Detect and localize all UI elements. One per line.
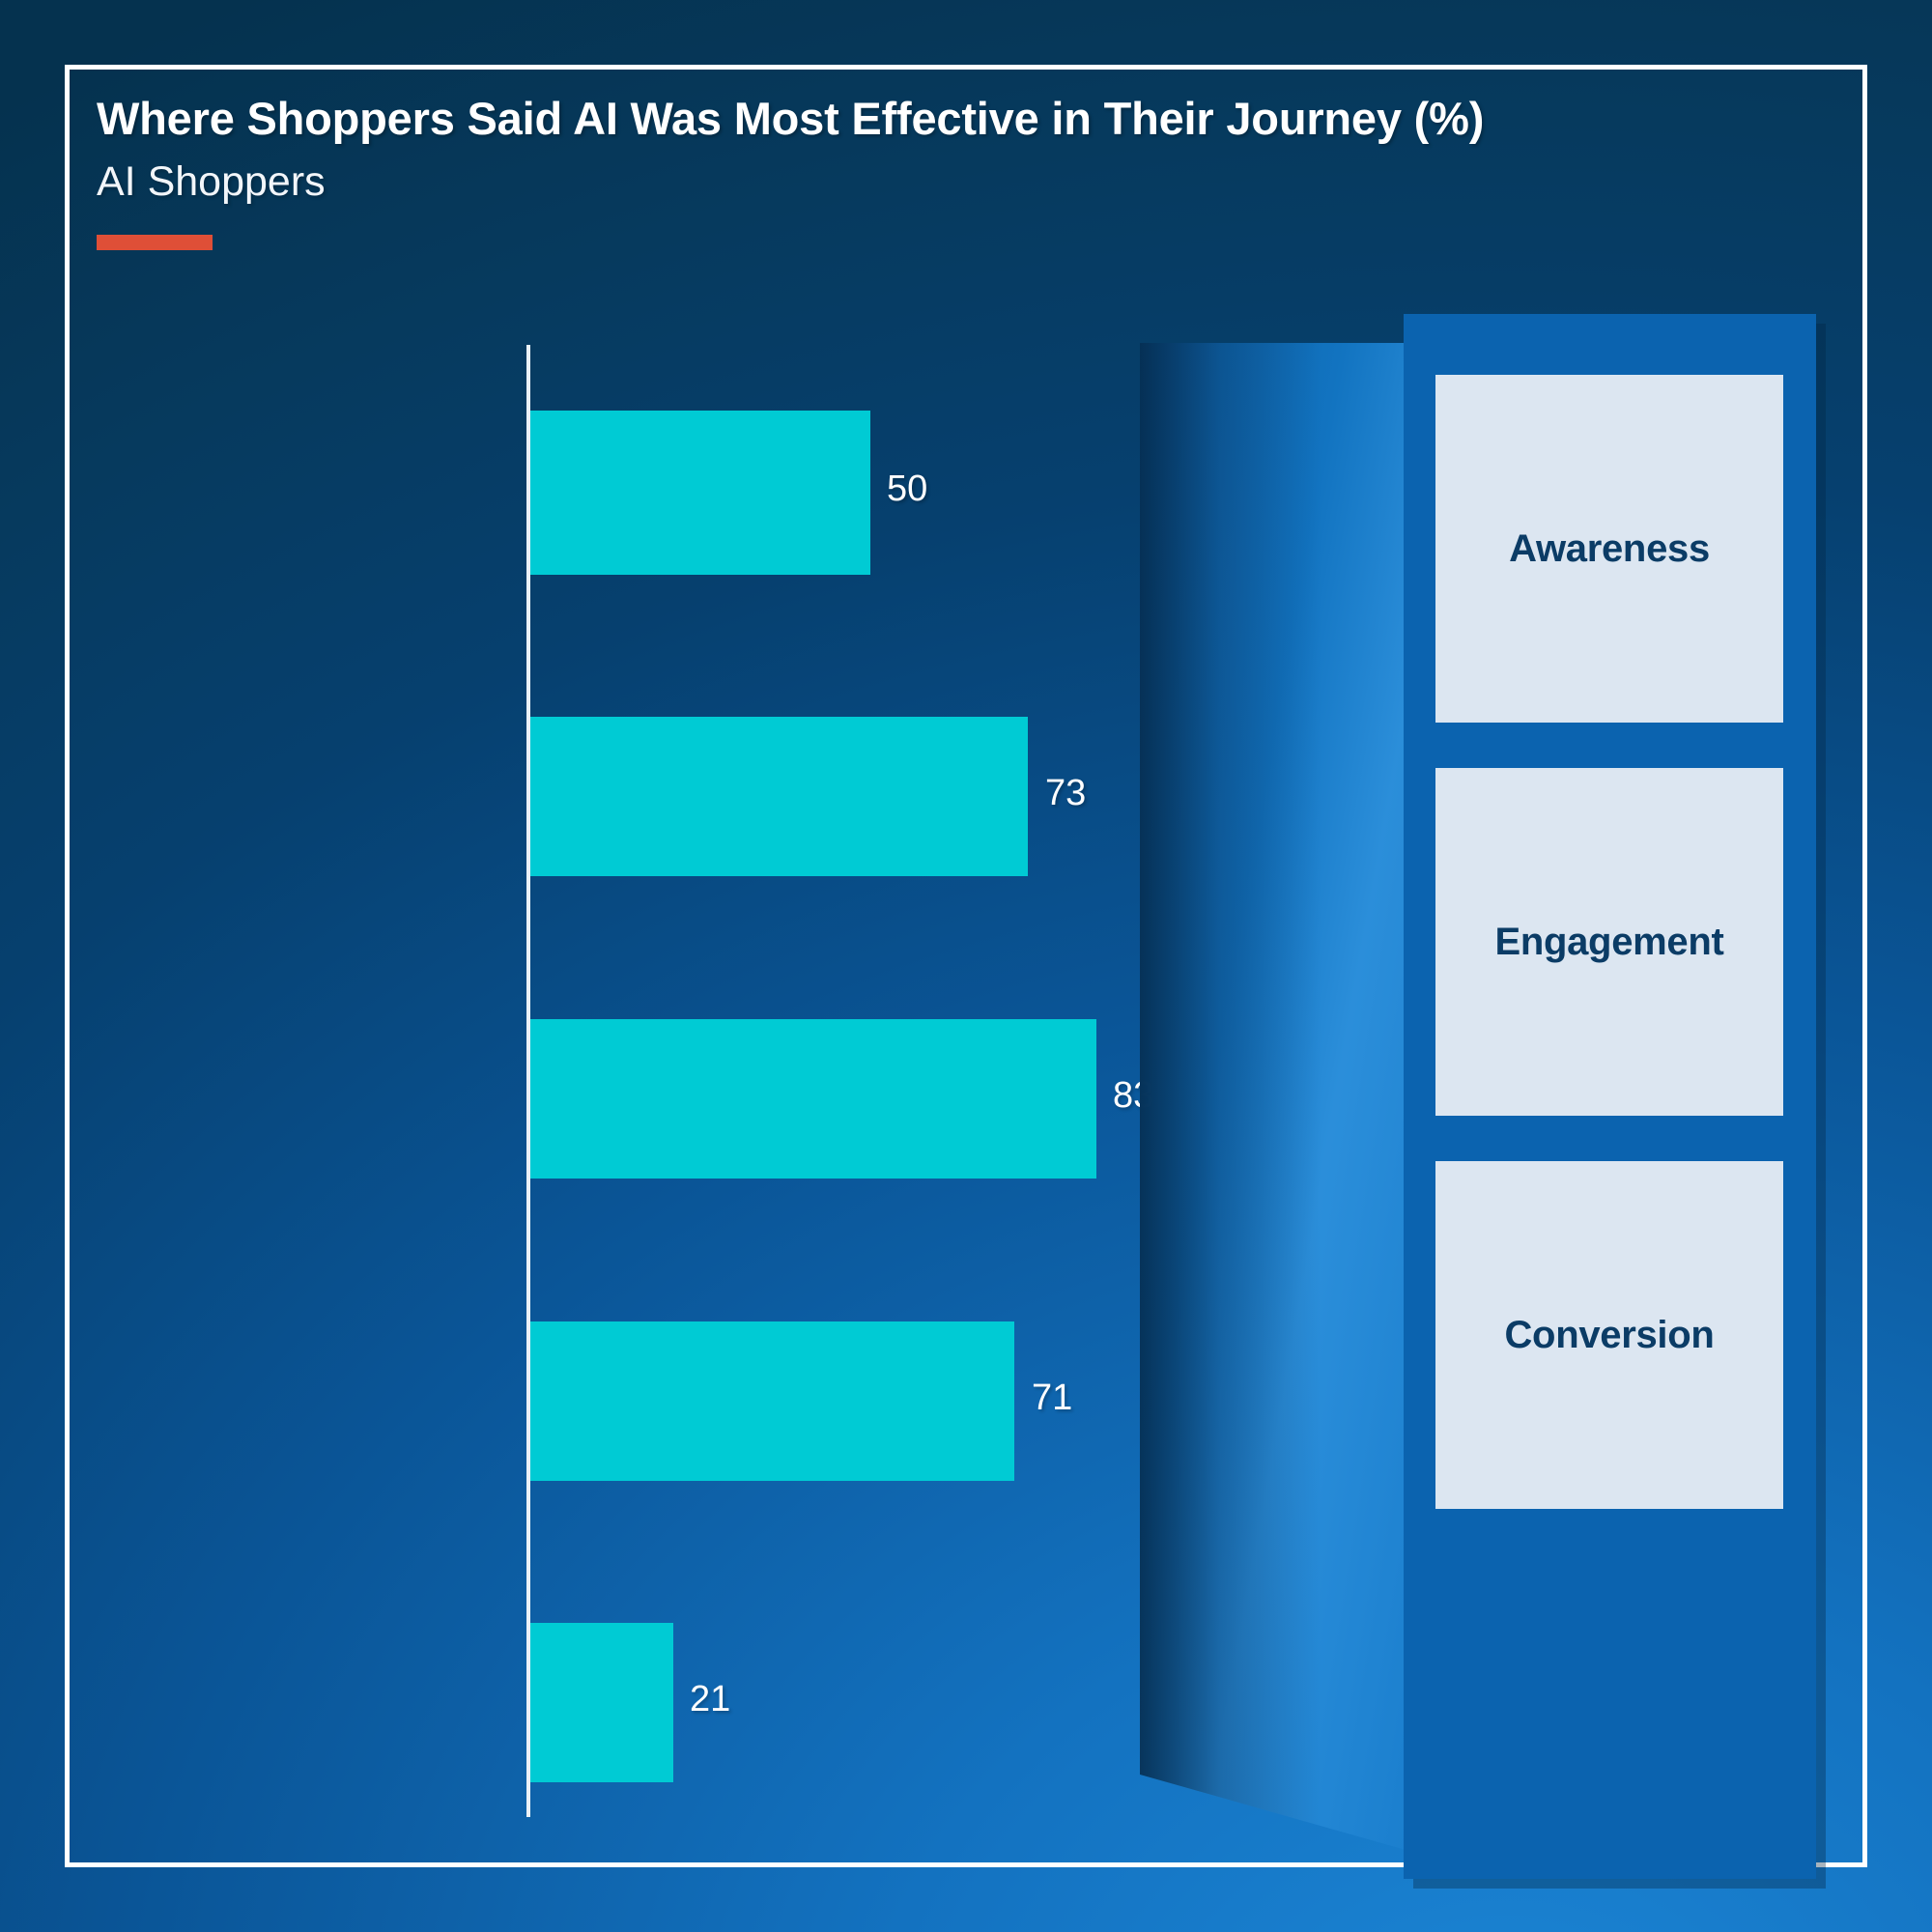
funnel-stage-label: Engagement [1494,921,1723,964]
bar-rect[interactable] [530,717,1028,876]
bar-value-label: 21 [690,1679,730,1720]
journey-funnel-diagram: Awareness Engagement Conversion [1140,343,1816,1850]
funnel-stage-conversion[interactable]: Conversion [1435,1161,1783,1509]
funnel-stage-label: Awareness [1509,527,1710,571]
bar-rect[interactable] [530,411,870,575]
bar-value-label: 71 [1032,1378,1072,1419]
chart-canvas: Where Shoppers Said AI Was Most Effectiv… [0,0,1932,1932]
funnel-stage-awareness[interactable]: Awareness [1435,375,1783,723]
bar-value-label: 73 [1045,773,1086,814]
funnel-stage-engagement[interactable]: Engagement [1435,768,1783,1116]
bar-rect[interactable] [530,1321,1014,1481]
funnel-front-face: Awareness Engagement Conversion [1404,314,1816,1879]
bar-rect[interactable] [530,1019,1096,1179]
bar-rect[interactable] [530,1623,673,1782]
bar-value-label: 50 [887,469,927,510]
funnel-stage-label: Conversion [1504,1314,1714,1357]
funnel-perspective-shading [1140,343,1406,1850]
